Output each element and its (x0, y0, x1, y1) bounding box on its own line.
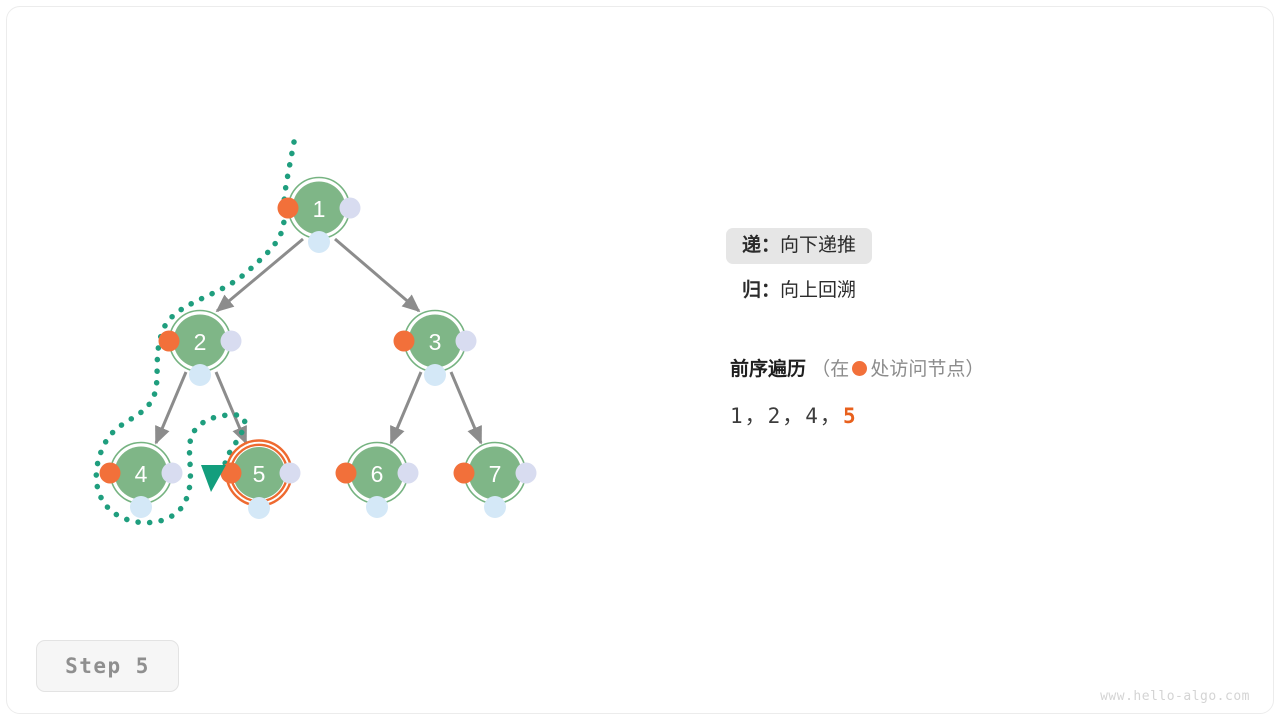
node-2-bottom-dot (189, 364, 211, 386)
node-7-visit-dot (454, 463, 475, 484)
traversal-title-suffix: 处访问节点） (870, 359, 984, 380)
tree-nodes: 1 2 3 (100, 178, 537, 520)
node-5-label: 5 (253, 461, 266, 487)
legend-backtrack-value: 向上回溯 (780, 280, 856, 301)
step-badge: Step 5 (36, 640, 179, 692)
visit-marker-dot-icon (852, 361, 867, 376)
traversal-title: 前序遍历 （在处访问节点） (730, 360, 1250, 379)
tree-node-3[interactable]: 3 (394, 311, 477, 387)
traversal-sequence-done: 1，2，4， (730, 404, 843, 428)
edge-3-6 (391, 372, 421, 443)
legend-item-recurse: 递：向下递推 (726, 228, 872, 264)
legend-backtrack-key: 归： (742, 280, 780, 301)
edge-2-4 (156, 372, 186, 443)
tree-node-7[interactable]: 7 (454, 443, 537, 519)
node-5-right-dot (280, 463, 301, 484)
traversal-order-block: 前序遍历 （在处访问节点） 1，2，4，5 (730, 360, 1250, 430)
edge-1-2 (217, 239, 303, 311)
node-5-bottom-dot (248, 497, 270, 519)
node-1-right-dot (340, 198, 361, 219)
tree-node-6[interactable]: 6 (336, 443, 419, 519)
watermark-text: www.hello-algo.com (1100, 689, 1250, 704)
node-4-bottom-dot (130, 496, 152, 518)
legend-panel: 递：向下递推 归：向上回溯 (726, 228, 1246, 300)
node-4-right-dot (162, 463, 183, 484)
node-2-right-dot (221, 331, 242, 352)
node-1-visit-dot (278, 198, 299, 219)
node-6-visit-dot (336, 463, 357, 484)
node-1-label: 1 (313, 196, 326, 222)
node-4-visit-dot (100, 463, 121, 484)
node-6-bottom-dot (366, 496, 388, 518)
node-6-label: 6 (371, 461, 384, 487)
site-watermark: www.hello-algo.com (1100, 689, 1250, 704)
legend-recurse-value: 向下递推 (780, 235, 856, 256)
edge-3-7 (451, 372, 481, 443)
node-6-right-dot (398, 463, 419, 484)
edge-1-3 (335, 239, 419, 311)
node-3-right-dot (456, 331, 477, 352)
step-badge-label: Step 5 (65, 654, 150, 678)
diagram-page: 1 2 3 (0, 0, 1280, 720)
node-7-right-dot (516, 463, 537, 484)
node-2-visit-dot (159, 331, 180, 352)
traversal-sequence-current: 5 (843, 404, 858, 428)
traversal-title-prefix: （在 (811, 359, 849, 380)
tree-node-2[interactable]: 2 (159, 311, 242, 387)
legend-recurse-key: 递： (742, 235, 780, 256)
traversal-sequence: 1，2，4，5 (730, 400, 1250, 430)
tree-node-4[interactable]: 4 (100, 443, 183, 519)
node-7-bottom-dot (484, 496, 506, 518)
legend-item-backtrack: 归：向上回溯 (726, 281, 1246, 300)
traversal-title-bold: 前序遍历 (730, 359, 806, 380)
node-1-bottom-dot (308, 231, 330, 253)
node-3-label: 3 (429, 329, 442, 355)
node-3-bottom-dot (424, 364, 446, 386)
node-3-visit-dot (394, 331, 415, 352)
node-4-label: 4 (135, 461, 148, 487)
tree-node-1[interactable]: 1 (278, 178, 361, 254)
node-2-label: 2 (194, 329, 207, 355)
node-7-label: 7 (489, 461, 502, 487)
tree-node-5[interactable]: 5 (221, 441, 301, 520)
